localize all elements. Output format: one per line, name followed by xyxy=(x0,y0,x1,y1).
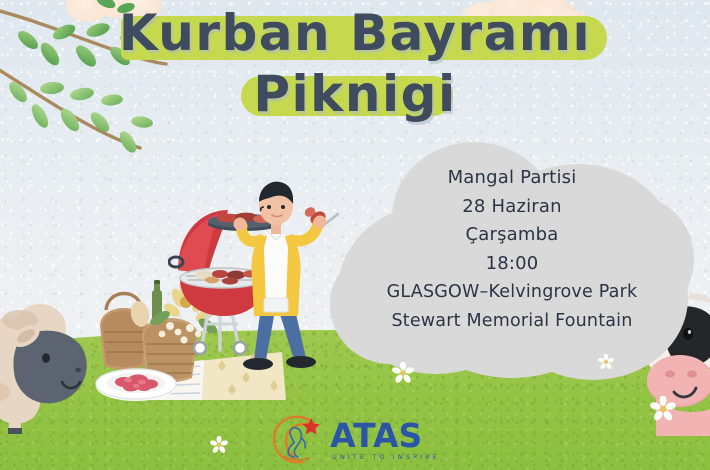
title-line-1: Kurban Bayramı xyxy=(93,2,617,64)
daisy-flower-icon xyxy=(598,354,614,374)
title-line-2-text: Piknigi xyxy=(223,65,486,123)
event-detail-line: Çarşamba xyxy=(330,221,694,250)
event-detail-line: Mangal Partisi xyxy=(330,164,694,193)
atas-logo[interactable]: ATAS UNITE TO INSPIRE xyxy=(270,414,440,466)
atas-wordmark: ATAS UNITE TO INSPIRE xyxy=(330,419,440,461)
logo-name-text: ATAS xyxy=(330,419,440,452)
daisy-flower-icon xyxy=(210,436,228,458)
daisy-flower-icon xyxy=(650,396,676,426)
crescent-star-horse-icon xyxy=(270,414,322,466)
title-line-1-text: Kurban Bayramı xyxy=(93,4,617,62)
event-details-list: Mangal Partisi 28 Haziran Çarşamba 18:00… xyxy=(330,164,694,335)
daisy-flower-icon xyxy=(392,362,414,388)
sheep-illustration xyxy=(0,294,136,434)
event-detail-line: 18:00 xyxy=(330,250,694,279)
event-detail-line: GLASGOW–Kelvingrove Park xyxy=(330,278,694,307)
event-detail-line: Stewart Memorial Fountain xyxy=(330,307,694,336)
poster-canvas: Kurban Bayramı Piknigi Mangal Partisi 28… xyxy=(0,0,710,470)
logo-tagline-text: UNITE TO INSPIRE xyxy=(332,454,440,461)
info-cloud-panel: Mangal Partisi 28 Haziran Çarşamba 18:00… xyxy=(330,142,694,378)
event-detail-line: 28 Haziran xyxy=(330,193,694,222)
poster-title: Kurban Bayramı Piknigi xyxy=(0,2,710,124)
title-line-2: Piknigi xyxy=(223,64,486,124)
